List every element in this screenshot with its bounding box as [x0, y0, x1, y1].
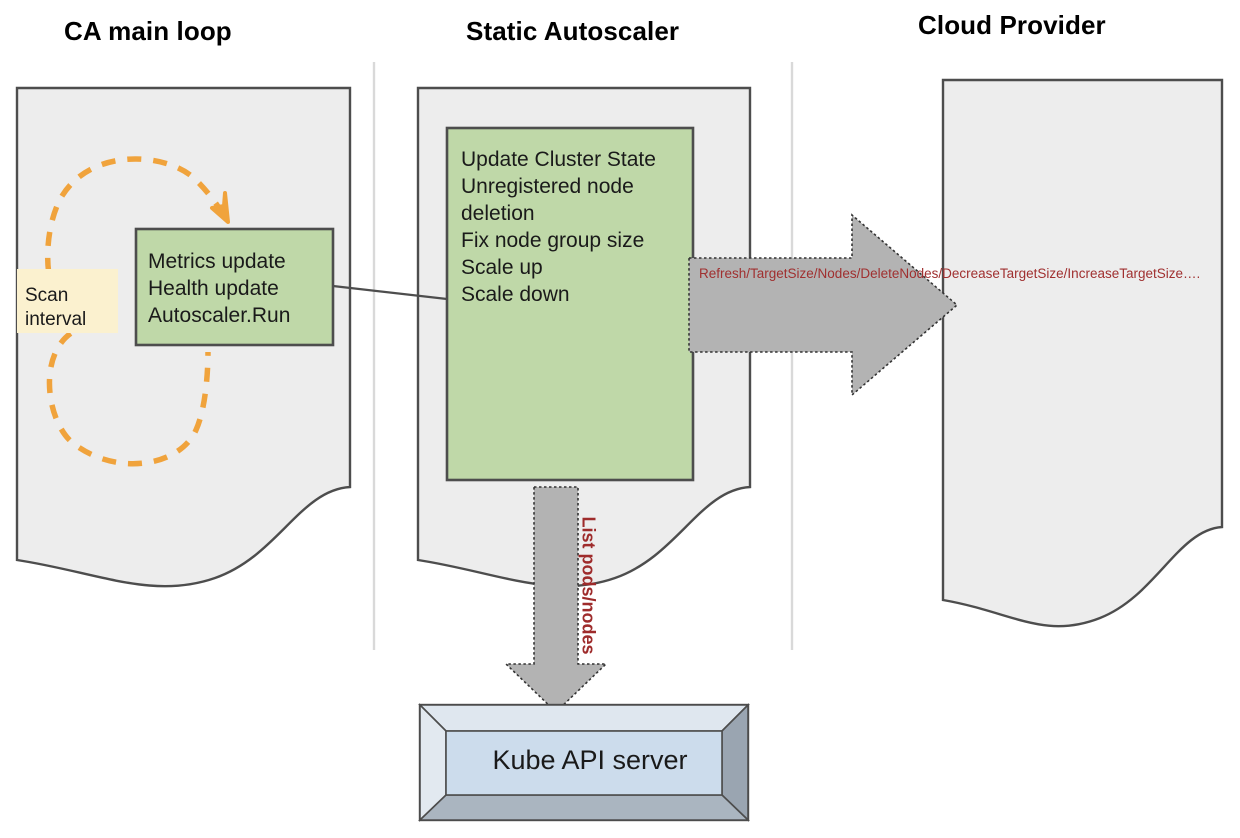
lane-title-cloud-provider: Cloud Provider: [918, 10, 1106, 41]
scan-interval-label: Scan interval: [25, 284, 117, 332]
list-pods-nodes-label: List pods/nodes: [578, 496, 599, 676]
lane-container-cloud-provider: [943, 80, 1222, 626]
static-autoscaler-steps-label: Update Cluster State Unregistered node d…: [461, 146, 693, 308]
diagram-canvas: CA main loop Static Autoscaler Cloud Pro…: [0, 0, 1240, 838]
cloud-provider-call-label: Refresh/TargetSize/Nodes/DeleteNodes/Dec…: [699, 266, 895, 283]
kube-api-server-label: Kube API server: [440, 745, 740, 776]
diagram-shapes: [0, 0, 1240, 838]
lane-title-static-autoscaler: Static Autoscaler: [466, 16, 679, 47]
lane-title-ca-main-loop: CA main loop: [64, 16, 232, 47]
metrics-update-label: Metrics update Health update Autoscaler.…: [148, 248, 338, 329]
